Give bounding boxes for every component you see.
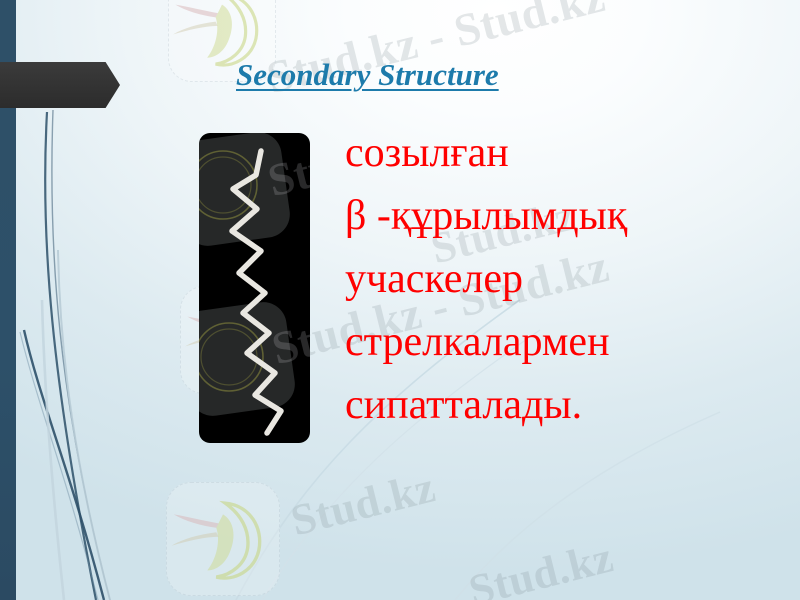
body-text-block: созылған β -құрылымдық учаскелер стрелка…: [345, 122, 785, 437]
page-title: Secondary Structure: [236, 58, 499, 92]
body-line: учаскелер: [345, 248, 785, 311]
watermark-text: Stud.kz: [286, 461, 441, 546]
body-line: стрелкалармен: [345, 311, 785, 374]
beta-strand-figure: Stud.kz Stud.kz: [199, 133, 310, 443]
arrow-banner-decoration: [0, 62, 120, 108]
watermark-logo: [166, 482, 280, 596]
body-line: созылған: [345, 122, 785, 185]
watermark-text: Stud.kz: [464, 531, 619, 600]
slide-canvas: Stud.kz - Stud.kz Stud.kz Stud.kz - Stud…: [0, 0, 800, 600]
body-line: сипатталады.: [345, 374, 785, 437]
body-line: β -құрылымдық: [345, 185, 785, 248]
